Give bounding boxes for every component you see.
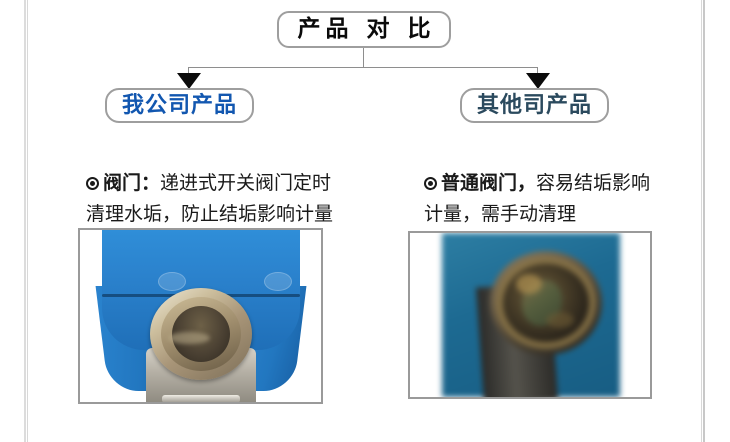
ring-dot-bullet-icon xyxy=(424,177,437,190)
body-text-other-product: 普通阀门，容易结垢影响计量，需手动清理 xyxy=(424,137,656,230)
column-other-product: 其他司产品 普通阀门，容易结垢影响计量，需手动清理 xyxy=(408,88,698,230)
photo-other-product-pipe xyxy=(410,233,650,397)
ring-dot-bullet-icon xyxy=(86,177,99,190)
comparison-title-box: 产品 对 比 xyxy=(277,11,451,48)
photo-frame-other-product xyxy=(408,231,652,399)
body-text-our-product: 阀门：递进式开关阀门定时清理水垢，防止结垢影响计量 xyxy=(86,137,338,230)
triangle-down-arrow-left-icon xyxy=(177,73,201,89)
heading-label-our-product: 我公司产品 xyxy=(122,95,237,117)
body-lead-other-product: 普通阀门， xyxy=(441,172,536,194)
housing-dimple-left xyxy=(158,272,186,291)
product-comparison-page: 产品 对 比 我公司产品 阀门：递进式开关阀门定时清理水垢，防止结垢影响计量 其… xyxy=(0,0,730,442)
body-lead-our-product: 阀门： xyxy=(103,172,160,194)
blurred-scene xyxy=(442,233,620,397)
page-left-rail xyxy=(27,0,28,442)
page-left-edge xyxy=(24,0,26,442)
housing-dimple-right xyxy=(264,272,292,291)
heading-box-other-product: 其他司产品 xyxy=(460,88,609,123)
connector-crossbar xyxy=(188,67,538,68)
heading-box-our-product: 我公司产品 xyxy=(105,88,254,123)
connector-trunk xyxy=(363,48,364,68)
photo-frame-our-product xyxy=(78,228,323,404)
page-right-edge xyxy=(703,0,705,442)
page-title: 产品 对 比 xyxy=(292,18,435,41)
triangle-down-arrow-right-icon xyxy=(526,73,550,89)
heading-label-other-product: 其他司产品 xyxy=(477,95,592,117)
photo-our-product-valve xyxy=(80,230,321,402)
column-our-product: 我公司产品 阀门：递进式开关阀门定时清理水垢，防止结垢影响计量 xyxy=(78,88,378,230)
pipe-rust-rim xyxy=(496,257,596,349)
brass-port-outer xyxy=(150,288,252,380)
brass-port-highlight xyxy=(168,332,210,344)
pipe-mouth-ring xyxy=(490,251,602,355)
page-right-rail xyxy=(701,0,702,442)
